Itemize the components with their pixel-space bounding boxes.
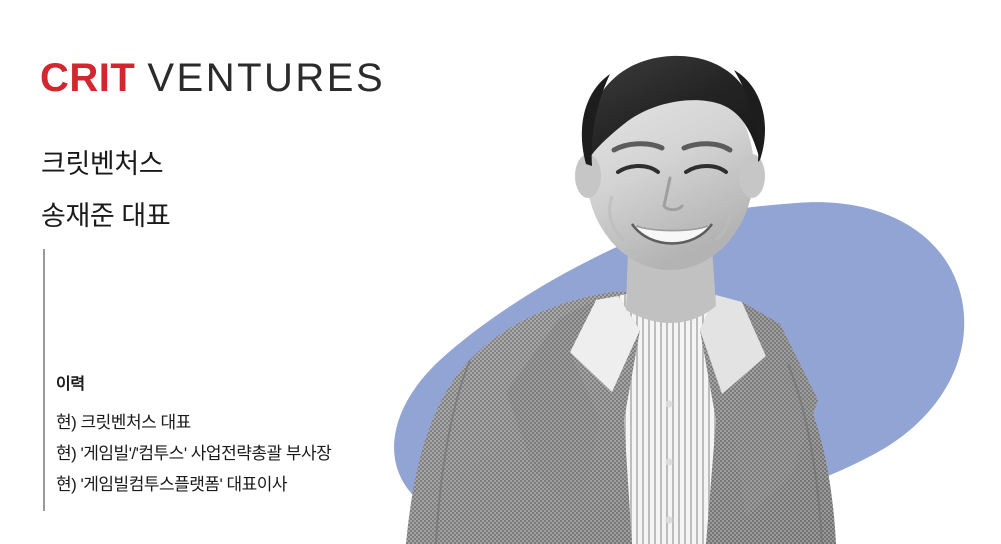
bio-section-heading: 이력 [56, 370, 85, 394]
person-name-title: 송재준 대표 [41, 200, 170, 232]
portrait-head [575, 56, 765, 270]
vertical-divider [43, 249, 45, 511]
list-item: 현) 크릿벤처스 대표 [56, 407, 331, 438]
list-item: 현) '게임빌컴투스플랫폼' 대표이사 [56, 469, 331, 500]
organization-name: 크릿벤처스 [41, 148, 163, 180]
list-item: 현) '게임빌'/'컴투스' 사업전략총괄 부사장 [56, 438, 331, 469]
brand-logo: CRITVENTURES [40, 58, 385, 98]
logo-crit-text: CRIT [40, 56, 135, 100]
portrait-torso [406, 290, 836, 544]
text-column: CRITVENTURES 크릿벤처스 송재준 대표 이력 현) 크릿벤처스 대표… [0, 0, 470, 544]
profile-slide: CRITVENTURES 크릿벤처스 송재준 대표 이력 현) 크릿벤처스 대표… [0, 0, 1001, 544]
bio-list: 현) 크릿벤처스 대표 현) '게임빌'/'컴투스' 사업전략총괄 부사장 현)… [56, 407, 331, 500]
logo-ventures-text: VENTURES [147, 56, 385, 100]
